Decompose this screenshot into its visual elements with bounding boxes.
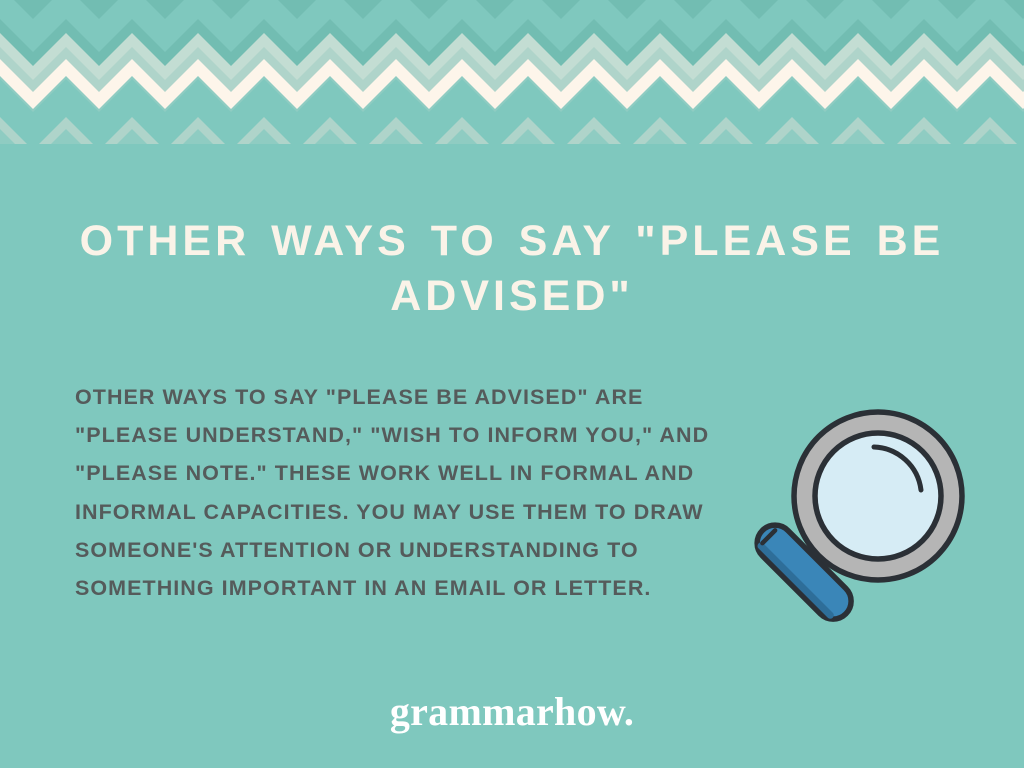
chevron-banner: [0, 0, 1024, 150]
magnifying-glass-icon: [702, 398, 992, 648]
brand-logo: grammarhow.: [0, 688, 1024, 735]
body-paragraph: OTHER WAYS TO SAY "PLEASE BE ADVISED" AR…: [75, 378, 715, 607]
page-title: OTHER WAYS TO SAY "PLEASE BE ADVISED": [64, 214, 960, 324]
poster-card: OTHER WAYS TO SAY "PLEASE BE ADVISED" OT…: [0, 0, 1024, 768]
